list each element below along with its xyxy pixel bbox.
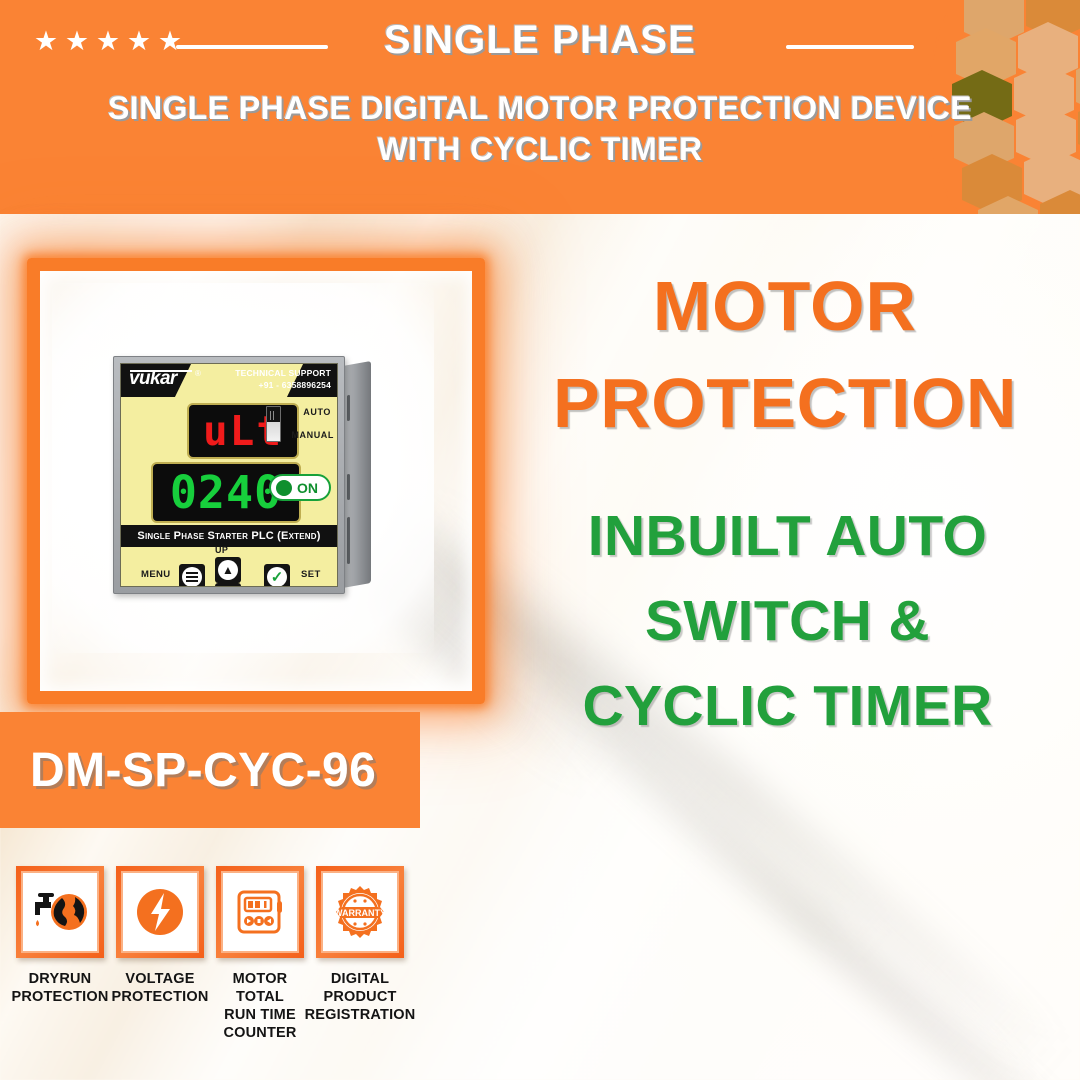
headline-feature-line-3: CYCLIC TIMER [500, 664, 1075, 749]
warranty-seal-icon: WARRANTY [331, 883, 389, 941]
up-key-label: UP [215, 545, 228, 555]
header-kicker: SINGLE PHASE [0, 18, 1080, 63]
headline-feature-line-1: INBUILT AUTO [500, 494, 1075, 579]
headline-feature-line-2: SWITCH & [500, 579, 1075, 664]
feature-icon-frame [216, 866, 304, 958]
feature-icon-frame [16, 866, 104, 958]
device-body: vukar ® TECHNICAL SUPPORT +91 - 63588962… [113, 356, 345, 594]
feature-item-voltage-protection: VOLTAGE PROTECTION [110, 866, 210, 1006]
device-model-strip-text: Single Phase Starter PLC (Extend) [137, 530, 320, 542]
feature-caption-line-2: PROTECTION [111, 988, 208, 1006]
svg-text:WARRANTY: WARRANTY [334, 908, 386, 918]
technical-support-label: TECHNICAL SUPPORT [235, 368, 331, 378]
device-primary-display: uLt [187, 403, 299, 459]
headline-protection: PROTECTION [490, 365, 1080, 441]
feature-caption-line-3: REGISTRATION [305, 1006, 416, 1024]
power-indicator-led-icon [276, 480, 292, 496]
secondary-display-value: 0240 [170, 470, 282, 515]
feature-caption: MOTOR TOTAL RUN TIME COUNTER [223, 970, 296, 1042]
feature-icon-inner [21, 871, 99, 953]
device-side-vent [347, 538, 350, 564]
feature-caption-line-2: PRODUCT [305, 988, 416, 1006]
set-button[interactable]: ✓ [264, 564, 290, 587]
header-subtitle-line-1: SINGLE PHASE DIGITAL MOTOR PROTECTION DE… [20, 88, 1060, 129]
feature-caption-line-2: PROTECTION [11, 988, 108, 1006]
feature-item-run-time-counter: MOTOR TOTAL RUN TIME COUNTER [210, 866, 310, 1042]
header-subtitle: SINGLE PHASE DIGITAL MOTOR PROTECTION DE… [20, 88, 1060, 170]
chevron-down-icon: ▼ [218, 586, 238, 587]
device-faceplate: vukar ® TECHNICAL SUPPORT +91 - 63588962… [120, 363, 338, 587]
feature-caption-line-1: MOTOR [223, 970, 296, 988]
headline-features: INBUILT AUTO SWITCH & CYCLIC TIMER [500, 494, 1075, 749]
menu-button[interactable] [179, 564, 205, 587]
feature-caption-line-2: TOTAL [223, 988, 296, 1006]
feature-item-digital-product-registration: WARRANTY DIGITAL PRODUCT REGISTRATION [310, 866, 410, 1024]
up-button[interactable]: ▲ [215, 557, 241, 583]
feature-caption-line-1: DRYRUN [11, 970, 108, 988]
technical-support-phone: +91 - 6358896254 [259, 380, 331, 390]
feature-caption-line-4: COUNTER [223, 1024, 296, 1042]
device-keypad: MENU UP DOWN SET ▲ ▼ [121, 547, 337, 587]
power-status-text: ON [297, 480, 318, 496]
feature-caption-line-3: RUN TIME [223, 1006, 296, 1024]
brand-logo-underline [130, 370, 192, 372]
product-device: vukar ® TECHNICAL SUPPORT +91 - 63588962… [113, 356, 365, 596]
feature-icon-inner [221, 871, 299, 953]
feature-icon-frame: WARRANTY [316, 866, 404, 958]
model-code-banner: DM-SP-CYC-96 [0, 712, 420, 828]
lightning-bolt-icon [131, 883, 189, 941]
menu-key-label: MENU [141, 569, 171, 580]
product-poster: ★ ★ ★ ★ ★ SINGLE PHASE SINGLE PHASE DIGI… [0, 0, 1080, 1080]
headline-motor: MOTOR [500, 268, 1070, 344]
registered-trademark-icon: ® [195, 369, 201, 378]
feature-icon-inner: WARRANTY [321, 871, 399, 953]
feature-caption: DRYRUN PROTECTION [11, 970, 108, 1006]
feature-caption: DIGITAL PRODUCT REGISTRATION [305, 970, 416, 1024]
device-model-strip: Single Phase Starter PLC (Extend) [121, 525, 337, 547]
technical-support-block: TECHNICAL SUPPORT +91 - 6358896254 [235, 367, 331, 391]
header-band: ★ ★ ★ ★ ★ SINGLE PHASE SINGLE PHASE DIGI… [0, 0, 1080, 214]
chevron-up-icon: ▲ [218, 560, 238, 580]
manual-mode-label: MANUAL [291, 430, 334, 440]
feature-icon-frame [116, 866, 204, 958]
feature-caption: VOLTAGE PROTECTION [111, 970, 208, 1006]
model-code-text: DM-SP-CYC-96 [30, 743, 376, 798]
check-icon: ✓ [267, 567, 287, 587]
feature-item-dryrun-protection: DRYRUN PROTECTION [10, 866, 110, 1006]
hamburger-icon [182, 567, 202, 587]
auto-manual-toggle-switch[interactable] [266, 406, 281, 442]
device-side-vent [347, 474, 350, 500]
power-status-badge: ON [269, 474, 331, 501]
device-brand-bar: vukar ® TECHNICAL SUPPORT +91 - 63588962… [121, 364, 337, 397]
auto-mode-label: AUTO [303, 407, 331, 417]
feature-caption-line-1: VOLTAGE [111, 970, 208, 988]
header-subtitle-line-2: WITH CYCLIC TIMER [20, 129, 1060, 170]
tap-globe-icon [29, 884, 91, 940]
down-button[interactable]: ▼ [215, 583, 241, 587]
feature-icon-inner [121, 871, 199, 953]
run-time-counter-icon [231, 883, 289, 941]
set-key-label: SET [301, 569, 321, 580]
feature-icon-row: DRYRUN PROTECTION VOLTAGE PROTECTION [10, 866, 510, 1042]
feature-caption-line-1: DIGITAL [305, 970, 416, 988]
